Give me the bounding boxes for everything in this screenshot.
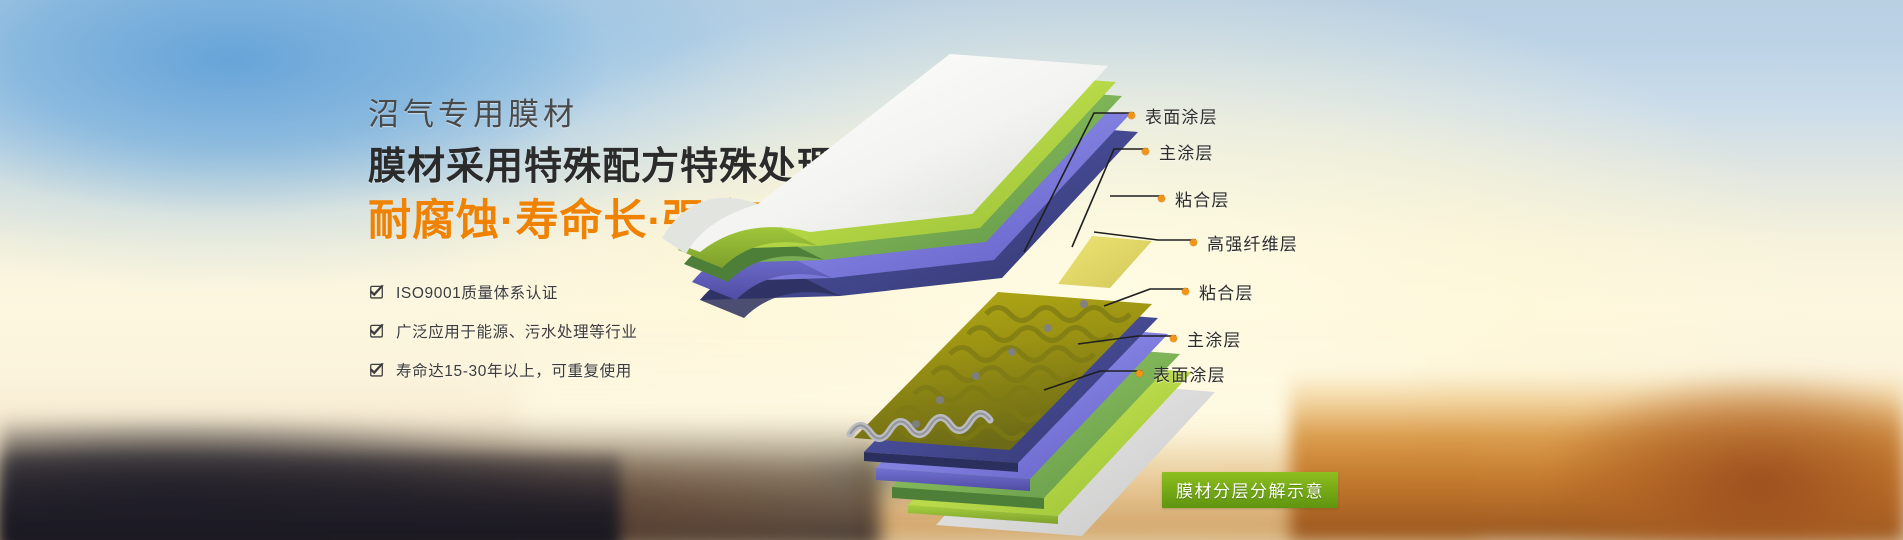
callout-adhesive-top: 粘合层 bbox=[1158, 186, 1230, 211]
callout-surface-coating-bottom: 表面涂层 bbox=[1136, 361, 1226, 386]
callout-dot-icon bbox=[1158, 195, 1165, 202]
callout-label: 粘合层 bbox=[1175, 186, 1230, 211]
callout-label: 粘合层 bbox=[1199, 279, 1254, 304]
callout-label: 表面涂层 bbox=[1153, 361, 1226, 386]
callout-label: 主涂层 bbox=[1159, 139, 1214, 164]
check-badge-icon bbox=[368, 362, 385, 379]
list-item-label: 寿命达15-30年以上，可重复使用 bbox=[396, 359, 632, 381]
list-item-label: ISO9001质量体系认证 bbox=[396, 281, 558, 303]
membrane-layer-diagram bbox=[640, 0, 1360, 540]
check-badge-icon bbox=[368, 284, 385, 301]
callout-dot-icon bbox=[1136, 370, 1143, 377]
callout-surface-coating-top: 表面涂层 bbox=[1128, 103, 1218, 128]
list-item-label: 广泛应用于能源、污水处理等行业 bbox=[396, 320, 638, 342]
callout-dot-icon bbox=[1128, 112, 1135, 119]
callout-dot-icon bbox=[1182, 288, 1189, 295]
callout-dot-icon bbox=[1170, 335, 1177, 342]
callout-label: 高强纤维层 bbox=[1207, 230, 1298, 255]
callout-label: 表面涂层 bbox=[1145, 103, 1218, 128]
callout-main-coating-bottom: 主涂层 bbox=[1170, 326, 1242, 351]
callout-dot-icon bbox=[1190, 239, 1197, 246]
callout-label: 主涂层 bbox=[1187, 326, 1242, 351]
callout-dot-icon bbox=[1142, 148, 1149, 155]
callout-adhesive-bottom: 粘合层 bbox=[1182, 279, 1254, 304]
background-field-right-shadow bbox=[1560, 352, 1903, 540]
check-badge-icon bbox=[368, 323, 385, 340]
callout-main-coating-top: 主涂层 bbox=[1142, 139, 1214, 164]
callout-high-strength-fiber: 高强纤维层 bbox=[1190, 230, 1298, 255]
diagram-caption-badge: 膜材分层分解示意 bbox=[1162, 472, 1338, 508]
hero-banner: 沼气专用膜材 膜材采用特殊配方特殊处理 耐腐蚀·寿命长·强度高 ISO9001质… bbox=[0, 0, 1903, 540]
background-ridge-left-dark bbox=[0, 455, 620, 540]
